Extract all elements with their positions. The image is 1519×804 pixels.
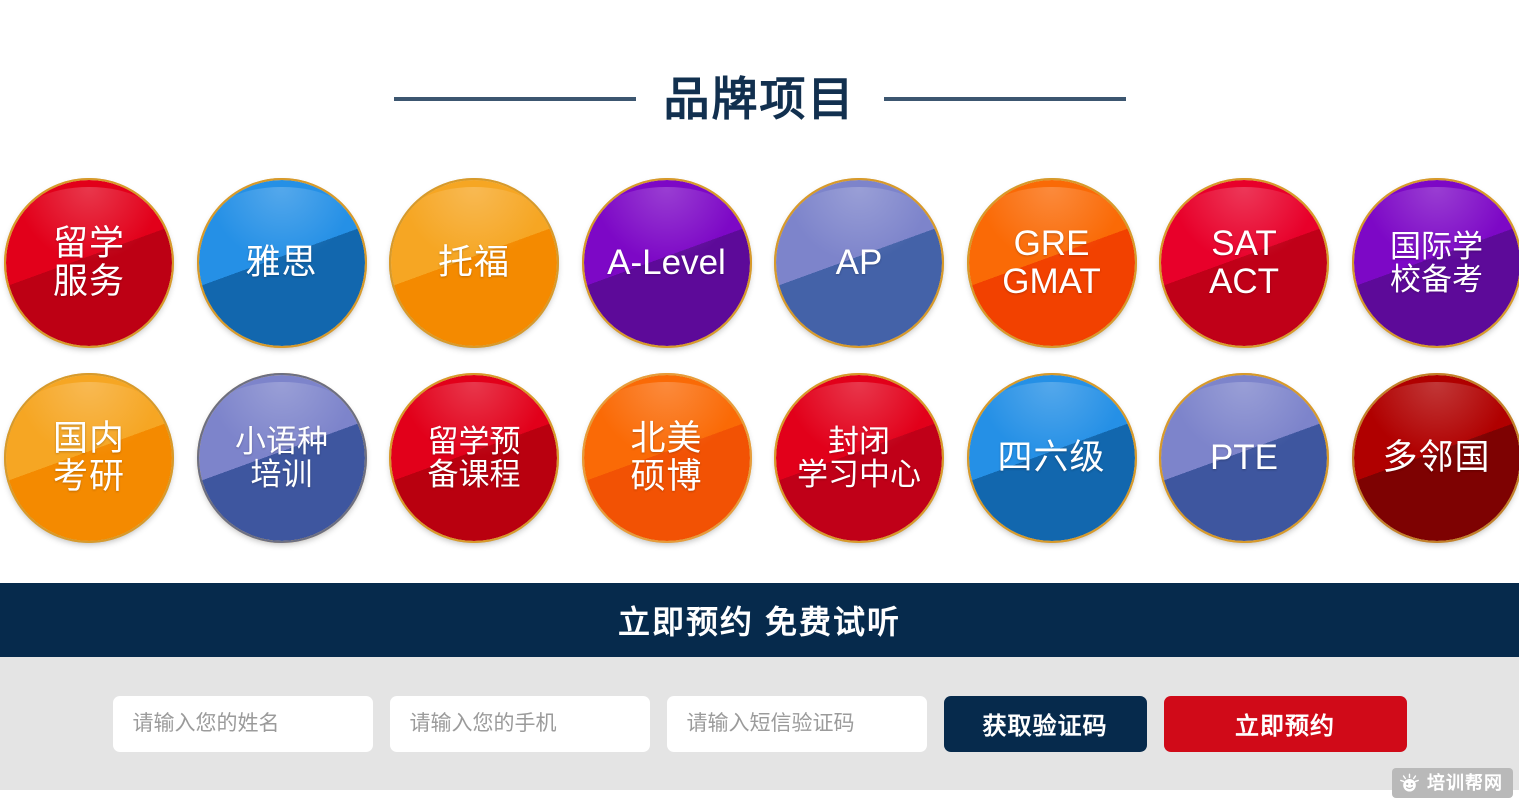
title-rule-right	[884, 97, 1126, 101]
program-circle[interactable]: 国际学 校备考	[1354, 180, 1519, 346]
program-circle[interactable]: 雅思	[199, 180, 365, 346]
program-circle-label: 雅思	[245, 244, 317, 282]
site-watermark: 培训帮网	[1392, 768, 1513, 798]
booking-form: 获取验证码 立即预约	[0, 657, 1519, 790]
sun-face-icon	[1399, 773, 1420, 794]
booking-banner-text: 立即预约 免费试听	[618, 597, 901, 643]
program-circle-label: 留学预 备课程	[428, 425, 521, 492]
program-circle-label: 四六级	[997, 439, 1105, 477]
title-rule-left	[394, 97, 636, 101]
booking-banner: 立即预约 免费试听	[0, 583, 1519, 657]
phone-input[interactable]	[390, 696, 650, 752]
program-circle-label: 多邻国	[1382, 439, 1490, 477]
program-circle[interactable]: 封闭 学习中心	[776, 375, 942, 541]
program-circle-label: SAT ACT	[1209, 225, 1279, 301]
program-circle[interactable]: SAT ACT	[1161, 180, 1327, 346]
program-row-1: 留学 服务雅思托福A-LevelAPGRE GMATSAT ACT国际学 校备考	[6, 180, 1513, 346]
program-circle-label: 托福	[438, 244, 510, 282]
program-circle[interactable]: 多邻国	[1354, 375, 1519, 541]
program-circle-label: AP	[836, 244, 883, 282]
sms-code-input[interactable]	[667, 696, 927, 752]
program-circle-label: 国际学 校备考	[1390, 230, 1483, 297]
program-circle-label: A-Level	[607, 244, 726, 282]
bottom-white-bar	[0, 790, 1519, 804]
program-circle-label: 封闭 学习中心	[797, 425, 921, 492]
program-row-2: 国内 考研小语种 培训留学预 备课程北美 硕博封闭 学习中心四六级PTE多邻国	[6, 375, 1513, 541]
page-title: 品牌项目	[664, 76, 856, 122]
program-circle[interactable]: 小语种 培训	[199, 375, 365, 541]
program-circle[interactable]: 北美 硕博	[584, 375, 750, 541]
program-circle[interactable]: PTE	[1161, 375, 1327, 541]
get-verification-code-button[interactable]: 获取验证码	[944, 696, 1147, 752]
program-circle[interactable]: 留学预 备课程	[391, 375, 557, 541]
program-circle-label: PTE	[1210, 439, 1278, 477]
program-circle[interactable]: A-Level	[584, 180, 750, 346]
program-circle-label: GRE GMAT	[1002, 225, 1101, 301]
program-circle-label: 北美 硕博	[630, 420, 702, 496]
program-circle-label: 小语种 培训	[235, 425, 328, 492]
program-circle[interactable]: 国内 考研	[6, 375, 172, 541]
program-circle[interactable]: 托福	[391, 180, 557, 346]
name-input[interactable]	[113, 696, 373, 752]
program-grid: 留学 服务雅思托福A-LevelAPGRE GMATSAT ACT国际学 校备考…	[6, 180, 1513, 538]
program-circle[interactable]: 留学 服务	[6, 180, 172, 346]
program-circle[interactable]: AP	[776, 180, 942, 346]
program-circle-label: 留学 服务	[53, 225, 125, 301]
program-circle[interactable]: GRE GMAT	[969, 180, 1135, 346]
program-circle-label: 国内 考研	[53, 420, 125, 496]
submit-booking-button[interactable]: 立即预约	[1164, 696, 1407, 752]
program-circle[interactable]: 四六级	[969, 375, 1135, 541]
site-watermark-text: 培训帮网	[1427, 774, 1503, 792]
page-title-row: 品牌项目	[0, 62, 1519, 136]
